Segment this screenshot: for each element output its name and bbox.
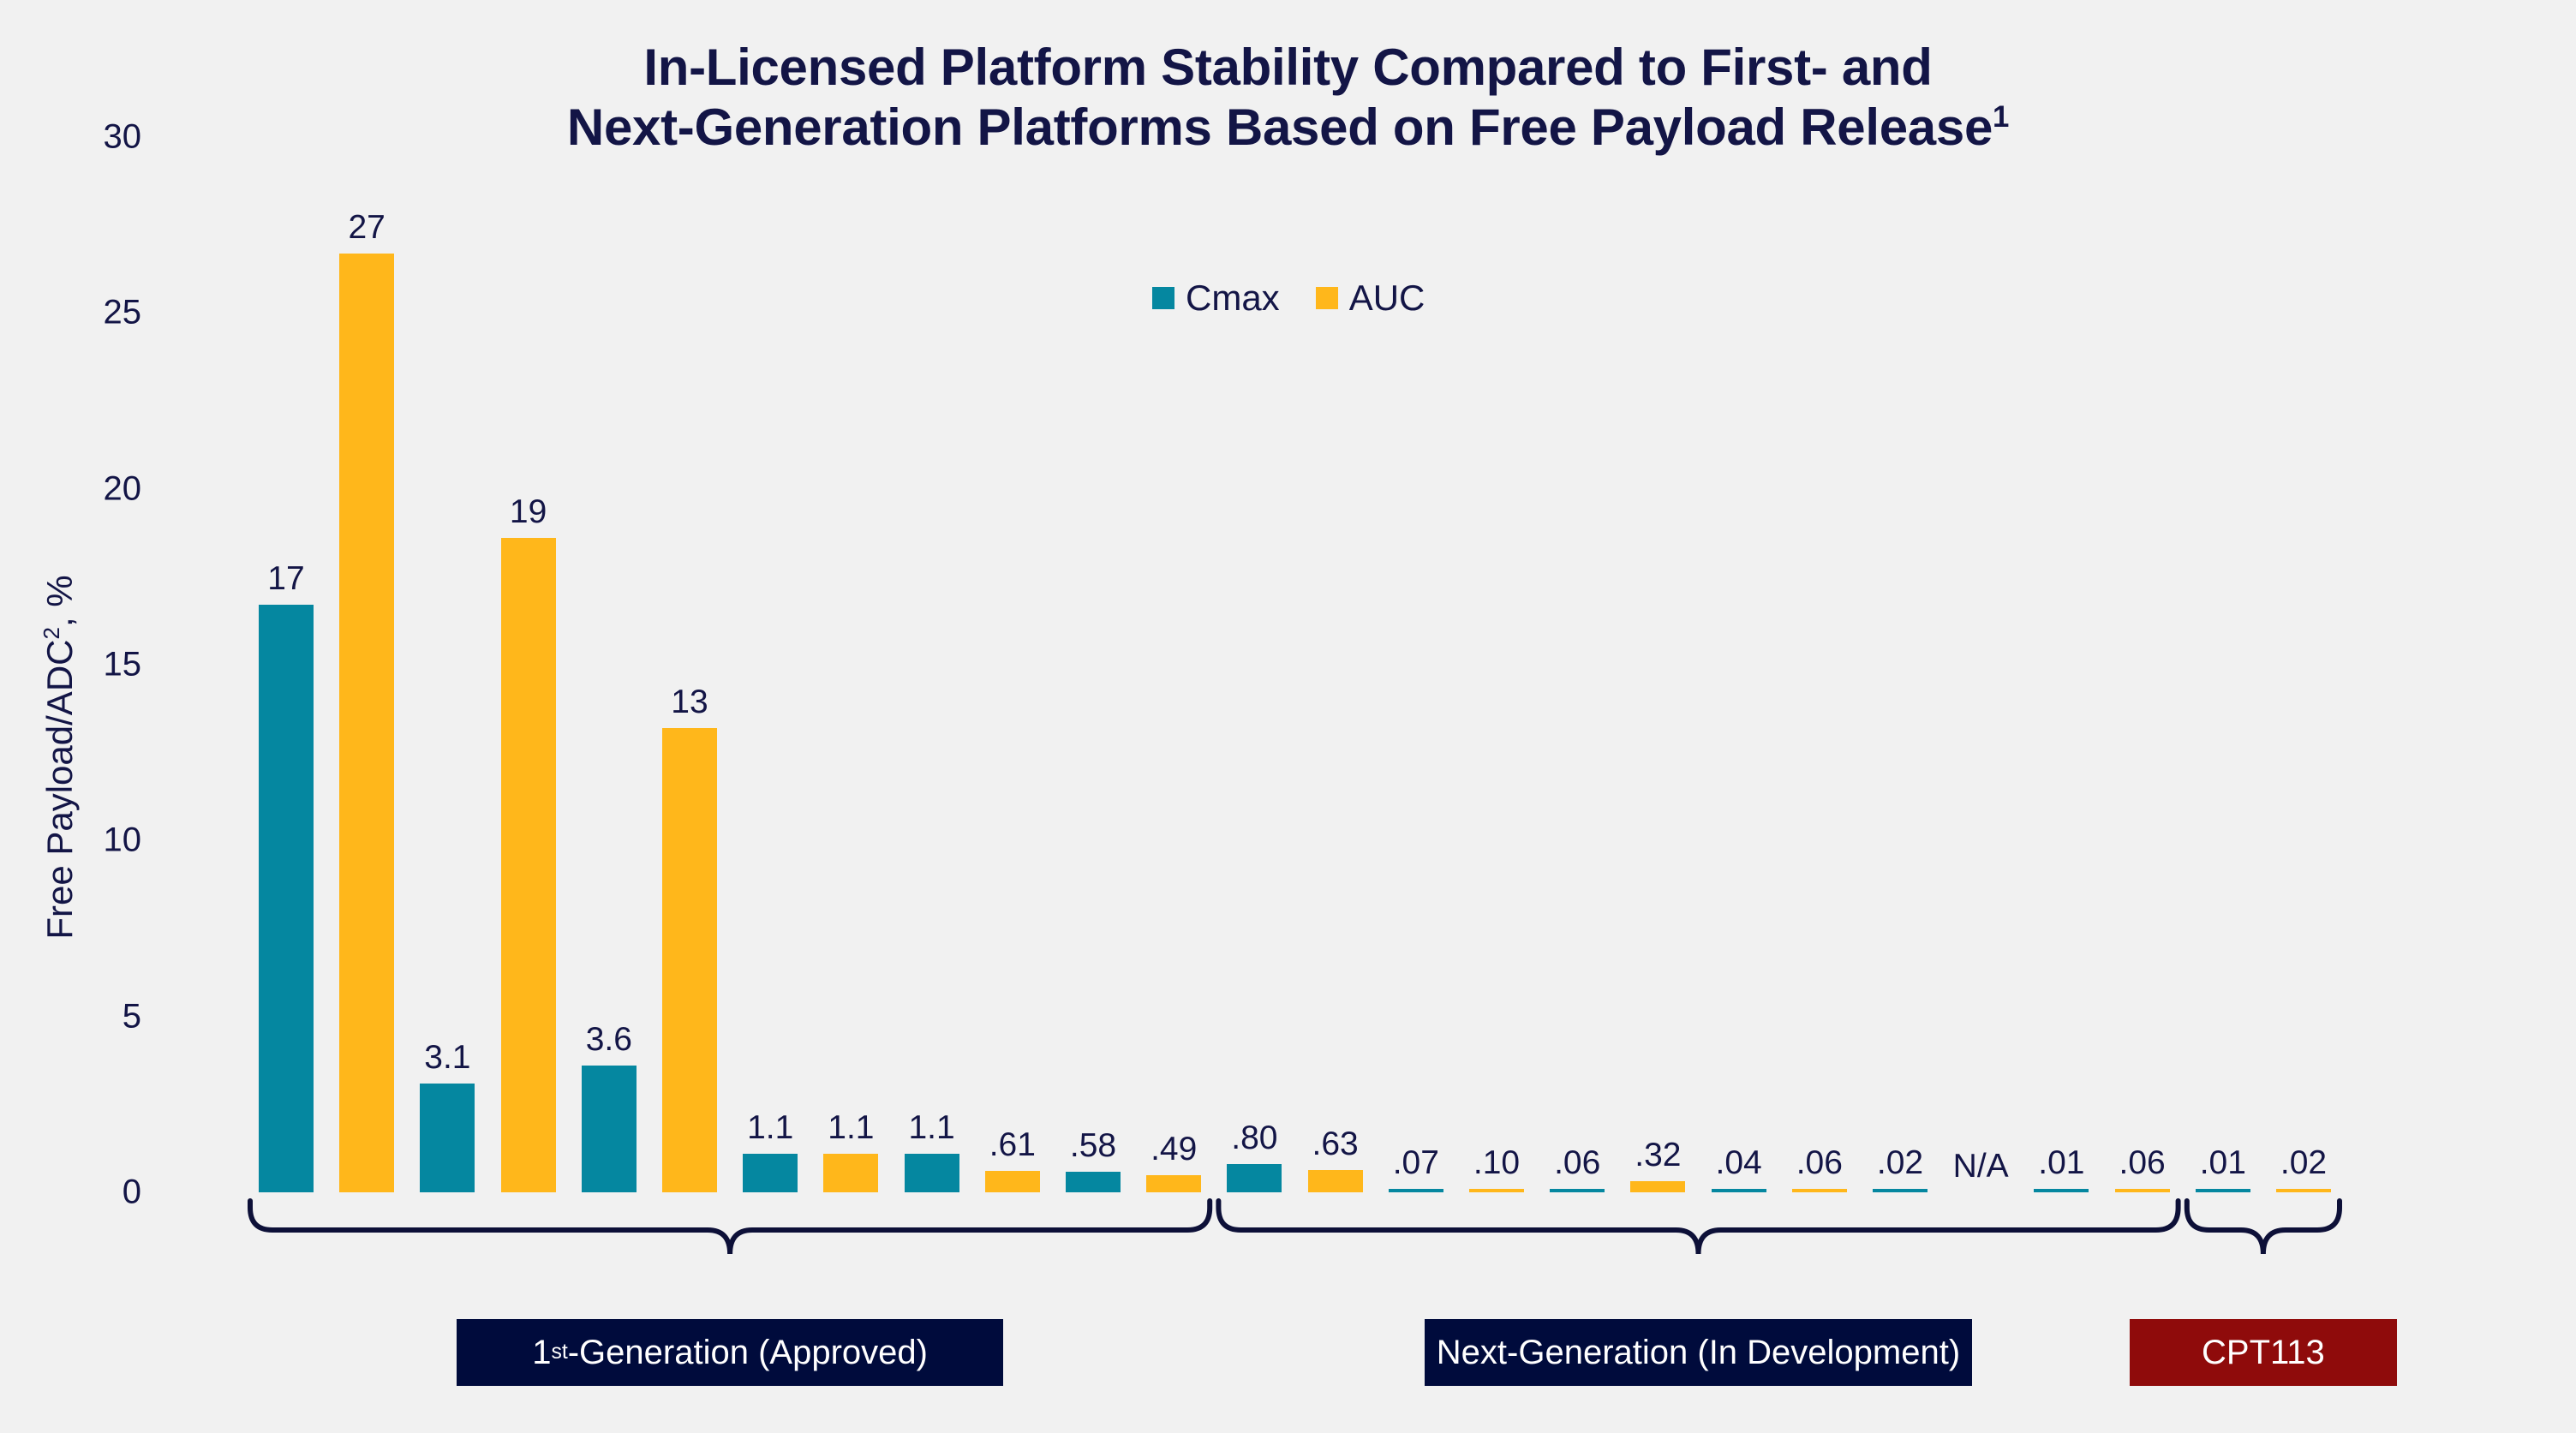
bar-value-label: .01: [2200, 1144, 2246, 1182]
bar-value-label: 27: [348, 209, 385, 247]
bar-rect: [905, 1154, 959, 1192]
bar-rect: [823, 1154, 878, 1192]
bar-value-label: 1.1: [828, 1109, 874, 1147]
bar-rect: [985, 1171, 1040, 1192]
bar-value-label: .32: [1635, 1137, 1681, 1174]
bar-value-label: 1.1: [747, 1109, 793, 1147]
bar-value-label: .10: [1473, 1144, 1520, 1182]
bar-value-label: 3.1: [424, 1039, 470, 1077]
bar-rect: [259, 605, 314, 1192]
bar-rect: [662, 728, 717, 1192]
bar-value-label: 3.6: [586, 1021, 632, 1059]
bar-value-label: 1.1: [908, 1109, 954, 1147]
group-braces: [0, 1192, 2576, 1312]
group-label-prefix: 1: [532, 1334, 551, 1372]
bar-rect: [501, 538, 556, 1192]
bar-value-label: .06: [2119, 1144, 2165, 1182]
group-label-text: CPT113: [2202, 1334, 2325, 1372]
bar-rect: [1146, 1175, 1201, 1192]
bar-value-label: .58: [1070, 1127, 1116, 1165]
bar-value-label: 17: [267, 560, 304, 598]
bar-value-label: .49: [1151, 1131, 1197, 1168]
group-label-3[interactable]: CPT113: [2130, 1319, 2397, 1386]
bar-rect: [1227, 1164, 1282, 1192]
bar-value-label: .06: [1796, 1144, 1843, 1182]
brace-2: [2187, 1201, 2340, 1254]
bar-rect: [1308, 1170, 1363, 1192]
bar-value-label: .04: [1715, 1144, 1761, 1182]
group-label-text: -Generation (Approved): [568, 1334, 928, 1372]
bar-rect: [420, 1084, 475, 1192]
bar-value-label: .61: [989, 1126, 1036, 1164]
bar-value-label: .01: [2038, 1144, 2084, 1182]
bar-value-label: 19: [510, 493, 547, 531]
bar-rect: [1066, 1172, 1121, 1192]
bar-value-label: .02: [2280, 1144, 2327, 1182]
bar-value-label: 13: [671, 684, 708, 721]
bar-value-label: .63: [1312, 1126, 1358, 1163]
bar-rect: [339, 254, 394, 1192]
bar-value-label: .07: [1393, 1144, 1439, 1182]
bar-value-label: .02: [1877, 1144, 1923, 1182]
chart-plot-area: Free Payload/ADC2, % 302520151050 CmaxAU…: [0, 0, 2576, 1433]
brace-1: [1218, 1201, 2178, 1254]
bar-value-label: .80: [1231, 1120, 1277, 1157]
bar-value-label: N/A: [1953, 1148, 2009, 1185]
bar-rect: [743, 1154, 798, 1192]
bar-value-label: .06: [1554, 1144, 1600, 1182]
brace-0: [250, 1201, 1210, 1254]
bar-rect: [582, 1066, 637, 1192]
bar-rect: [1630, 1181, 1685, 1192]
group-label-1[interactable]: 1st-Generation (Approved): [457, 1319, 1004, 1386]
group-label-text: Next-Generation (In Development): [1437, 1334, 1960, 1372]
group-label-2[interactable]: Next-Generation (In Development): [1425, 1319, 1972, 1386]
